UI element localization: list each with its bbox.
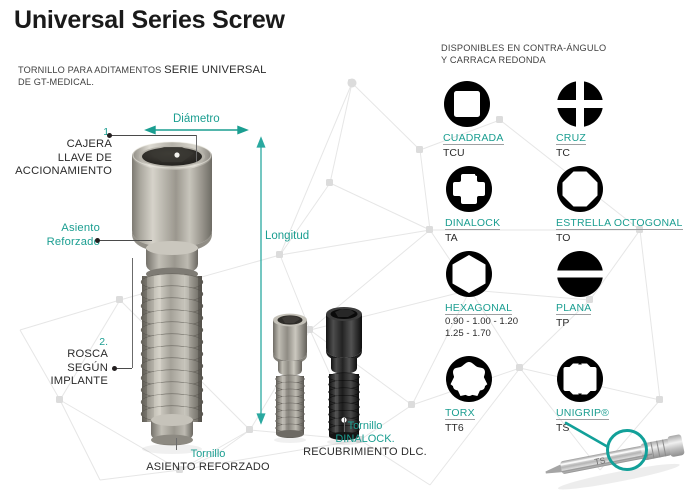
driver-code-cuadrada: TCU bbox=[443, 147, 504, 160]
leader-line-cajera bbox=[111, 135, 196, 136]
driver-item-dinalock[interactable]: DINALOCK TA bbox=[445, 165, 500, 245]
driver-item-hexagonal[interactable]: HEXAGONAL 0.90 - 1.00 - 1.20 1.25 - 1.70 bbox=[445, 250, 518, 339]
subtitle-line2: DE GT-MEDICAL. bbox=[18, 76, 267, 88]
callout-cajera-number: 1. bbox=[8, 126, 112, 138]
caption-dina-line1: Tornillo bbox=[300, 420, 430, 433]
driver-item-plana[interactable]: PLANA TP bbox=[556, 250, 604, 330]
driver-name-cruz: CRUZ bbox=[556, 132, 586, 145]
caption-dina-line3: RECUBRIMIENTO DLC. bbox=[300, 446, 430, 459]
page-title: Universal Series Screw bbox=[14, 6, 285, 35]
caption-dinalock-screw: Tornillo DINALOCK. RECUBRIMIENTO DLC. bbox=[300, 420, 430, 459]
leader-line-asiento bbox=[99, 240, 152, 241]
octagon-socket-icon bbox=[556, 165, 604, 213]
tool-highlight-ring bbox=[606, 429, 648, 471]
driver-code-torx: TT6 bbox=[445, 422, 493, 435]
driver-sizes-hexagonal-line1: 0.90 - 1.00 - 1.20 bbox=[445, 316, 518, 328]
driver-item-cruz[interactable]: CRUZ TC bbox=[556, 80, 604, 160]
tool-leader-line bbox=[566, 423, 608, 447]
leader-dot-asiento bbox=[95, 238, 100, 243]
driver-name-hexagonal: HEXAGONAL bbox=[445, 302, 512, 315]
leader-line-rosca bbox=[116, 368, 132, 369]
callout-rosca: 2. ROSCA SEGÚN IMPLANTE bbox=[8, 336, 108, 389]
hexagon-socket-icon bbox=[445, 250, 493, 298]
subtitle-block: TORNILLO PARA ADITAMENTOS SERIE UNIVERSA… bbox=[18, 64, 267, 88]
callout-rosca-number: 2. bbox=[8, 336, 108, 348]
driver-code-estrella: TO bbox=[556, 232, 683, 245]
square-socket-icon bbox=[443, 80, 491, 128]
subtitle-line1: TORNILLO PARA ADITAMENTOS bbox=[18, 65, 161, 75]
callout-cajera-line2: LLAVE DE bbox=[8, 152, 112, 166]
torx-socket-icon bbox=[445, 355, 493, 403]
callout-cajera-line3: ACCIONAMIENTO bbox=[8, 165, 112, 179]
main-screw-illustration bbox=[120, 130, 260, 460]
callout-asiento: Asiento Reforzado bbox=[8, 222, 100, 249]
driver-item-estrella-octogonal[interactable]: ESTRELLA OCTOGONAL TO bbox=[556, 165, 683, 245]
callout-asiento-line1: Asiento bbox=[8, 222, 100, 236]
caption-dina-line2: DINALOCK. bbox=[300, 433, 430, 446]
driver-item-torx[interactable]: TORX TT6 bbox=[445, 355, 493, 435]
driver-name-plana: PLANA bbox=[556, 302, 591, 315]
driver-name-dinalock: DINALOCK bbox=[445, 217, 500, 230]
driver-item-cuadrada[interactable]: CUADRADA TCU bbox=[443, 80, 504, 160]
caption-main-line1: Tornillo bbox=[118, 448, 298, 461]
leader-drop-cajera bbox=[196, 135, 197, 162]
panel-header-line2: Y CARRACA REDONDA bbox=[441, 54, 606, 66]
length-label: Longitud bbox=[265, 230, 309, 242]
caption-main-line2: ASIENTO REFORZADO bbox=[118, 461, 298, 474]
driver-code-plana: TP bbox=[556, 317, 604, 330]
poster-canvas: Universal Series Screw TORNILLO PARA ADI… bbox=[0, 0, 700, 500]
callout-asiento-line2: Reforzado bbox=[8, 236, 100, 250]
driver-code-dinalock: TA bbox=[445, 232, 500, 245]
subtitle-emphasis: SERIE UNIVERSAL bbox=[164, 64, 266, 76]
unigrip-socket-icon bbox=[556, 355, 604, 403]
leader-dot-rosca bbox=[112, 366, 117, 371]
leader-bracket-rosca bbox=[132, 258, 133, 368]
dinalock-socket-icon bbox=[445, 165, 493, 213]
driver-sizes-hexagonal-line2: 1.25 - 1.70 bbox=[445, 328, 518, 340]
cross-socket-icon bbox=[556, 80, 604, 128]
callout-rosca-line2: SEGÚN bbox=[8, 362, 108, 376]
callout-rosca-line1: ROSCA bbox=[8, 348, 108, 362]
leader-dot-cajera bbox=[107, 133, 112, 138]
driver-name-torx: TORX bbox=[445, 407, 475, 420]
callout-cajera-line1: CAJERA bbox=[8, 138, 112, 152]
driver-name-cuadrada: CUADRADA bbox=[443, 132, 504, 145]
flat-socket-icon bbox=[556, 250, 604, 298]
caption-main-screw: Tornillo ASIENTO REFORZADO bbox=[118, 448, 298, 474]
driver-name-estrella: ESTRELLA OCTOGONAL bbox=[556, 217, 683, 230]
tool-marking-text: TS bbox=[594, 455, 607, 467]
diameter-label: Diámetro bbox=[173, 113, 220, 125]
driver-code-cruz: TC bbox=[556, 147, 604, 160]
callout-rosca-line3: IMPLANTE bbox=[8, 375, 108, 389]
callout-cajera: 1. CAJERA LLAVE DE ACCIONAMIENTO bbox=[8, 126, 112, 179]
panel-header-line1: DISPONIBLES EN CONTRA-ÁNGULO bbox=[441, 42, 606, 54]
panel-header: DISPONIBLES EN CONTRA-ÁNGULO Y CARRACA R… bbox=[441, 42, 606, 66]
